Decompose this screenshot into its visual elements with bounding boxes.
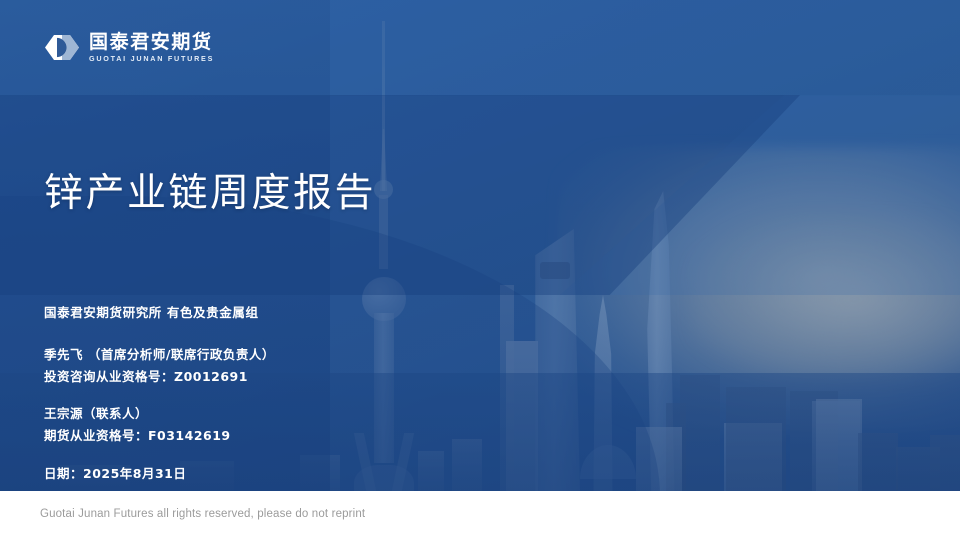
author-entry: 王宗源（联系人） 期货从业资格号：F03142619: [44, 403, 275, 446]
department-label: 国泰君安期货研究所 有色及贵金属组: [44, 302, 259, 321]
hexagon-sphere-logo-icon: [44, 34, 80, 61]
author-license: 投资咨询从业资格号：Z0012691: [44, 366, 275, 388]
company-logo[interactable]: 国泰君安期货 GUOTAI JUNAN FUTURES: [44, 33, 214, 62]
author-list: 季先飞 （首席分析师/联席行政负责人） 投资咨询从业资格号：Z0012691 王…: [44, 344, 275, 446]
page-title: 锌产业链周度报告: [44, 172, 376, 217]
author-name: 王宗源（联系人）: [44, 403, 275, 425]
logo-chinese-name: 国泰君安期货: [89, 33, 214, 52]
slide-footer: Guotai Junan Futures all rights reserved…: [0, 491, 960, 540]
copyright-notice: Guotai Junan Futures all rights reserved…: [40, 508, 365, 520]
logo-english-name: GUOTAI JUNAN FUTURES: [89, 55, 214, 62]
report-date: 日期：2025年8月31日: [44, 463, 186, 482]
logo-wordmark: 国泰君安期货 GUOTAI JUNAN FUTURES: [89, 33, 214, 62]
author-name: 季先飞 （首席分析师/联席行政负责人）: [44, 344, 275, 366]
author-entry: 季先飞 （首席分析师/联席行政负责人） 投资咨询从业资格号：Z0012691: [44, 344, 275, 387]
author-license: 期货从业资格号：F03142619: [44, 425, 275, 447]
presentation-cover-slide: 国泰君安期货 GUOTAI JUNAN FUTURES 锌产业链周度报告 国泰君…: [0, 0, 960, 540]
